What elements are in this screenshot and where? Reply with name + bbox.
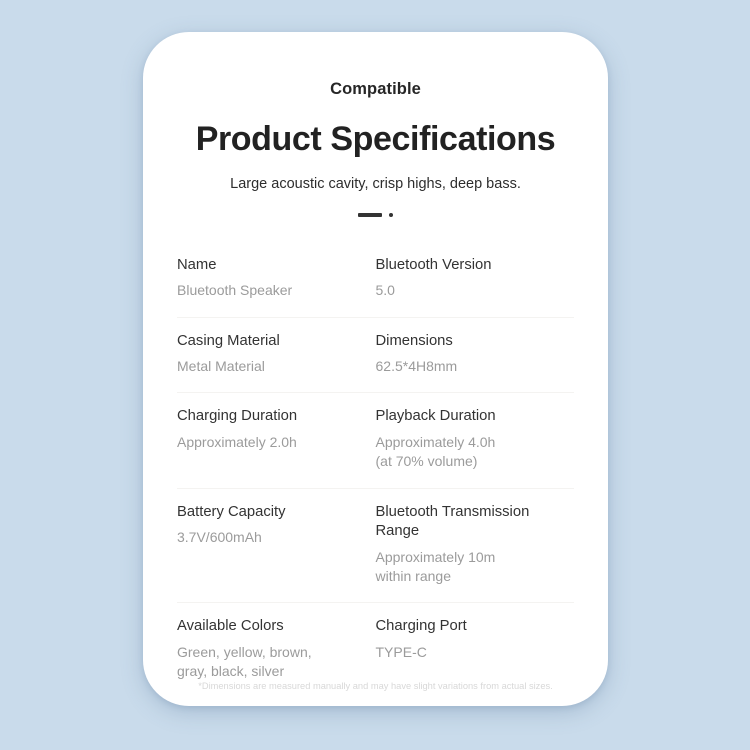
spec-cell-bluetooth-version: Bluetooth Version 5.0 [376,256,575,301]
table-row: Name Bluetooth Speaker Bluetooth Version… [177,256,574,318]
spec-value: Approximately 4.0h (at 70% volume) [376,433,575,472]
dash-icon [358,213,382,217]
spec-label: Bluetooth Transmission Range [376,503,575,542]
header-ornament [143,208,608,222]
spec-cell-casing-material: Casing Material Metal Material [177,332,376,377]
card-header: Compatible Product Specifications Large … [143,32,608,222]
product-specifications-card: Compatible Product Specifications Large … [143,32,608,706]
spec-value: Approximately 10m within range [376,548,575,587]
spec-cell-playback-duration: Playback Duration Approximately 4.0h (at… [376,407,575,471]
spec-label: Playback Duration [376,407,575,427]
spec-label: Available Colors [177,617,366,637]
spec-label: Battery Capacity [177,503,366,523]
spec-value: 62.5*4H8mm [376,357,575,376]
page-subtitle: Large acoustic cavity, crisp highs, deep… [143,175,608,194]
spec-cell-dimensions: Dimensions 62.5*4H8mm [376,332,575,377]
spec-label: Casing Material [177,332,366,352]
spec-cell-charging-port: Charging Port TYPE-C [376,617,575,681]
dot-icon [389,213,393,217]
page-title: Product Specifications [143,120,608,159]
spec-label: Charging Port [376,617,575,637]
spec-value: Metal Material [177,357,366,376]
table-row: Casing Material Metal Material Dimension… [177,318,574,394]
footnote-disclaimer: *Dimensions are measured manually and ma… [143,680,608,692]
specifications-table: Name Bluetooth Speaker Bluetooth Version… [177,256,574,698]
spec-value: 3.7V/600mAh [177,528,366,547]
spec-value: 5.0 [376,281,575,300]
spec-label: Bluetooth Version [376,256,575,276]
spec-value: TYPE-C [376,643,575,662]
spec-value: Green, yellow, brown, gray, black, silve… [177,643,366,682]
spec-value: Bluetooth Speaker [177,281,366,300]
spec-cell-battery-capacity: Battery Capacity 3.7V/600mAh [177,503,376,587]
spec-cell-bluetooth-range: Bluetooth Transmission Range Approximate… [376,503,575,587]
table-row: Battery Capacity 3.7V/600mAh Bluetooth T… [177,489,574,604]
spec-value: Approximately 2.0h [177,433,366,452]
spec-label: Dimensions [376,332,575,352]
spec-cell-charging-duration: Charging Duration Approximately 2.0h [177,407,376,471]
table-row: Charging Duration Approximately 2.0h Pla… [177,393,574,488]
spec-cell-name: Name Bluetooth Speaker [177,256,376,301]
spec-cell-available-colors: Available Colors Green, yellow, brown, g… [177,617,376,681]
eyebrow-label: Compatible [143,80,608,100]
spec-label: Charging Duration [177,407,366,427]
spec-label: Name [177,256,366,276]
